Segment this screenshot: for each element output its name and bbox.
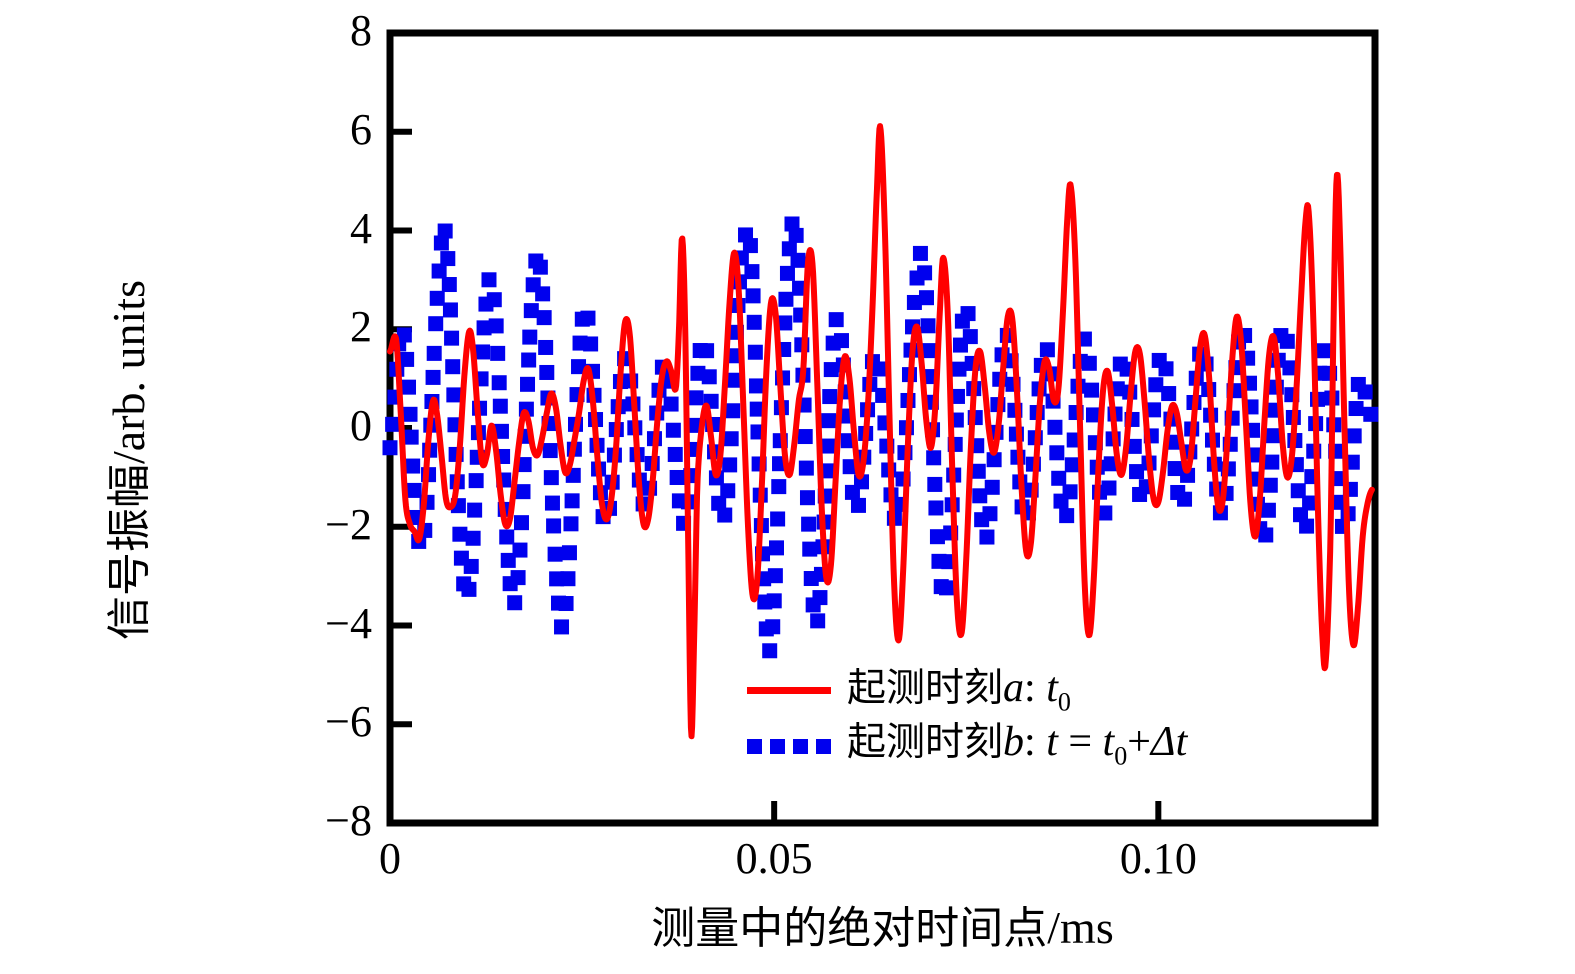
series-b-marker xyxy=(444,331,459,346)
series-b-marker xyxy=(545,496,560,511)
y-axis-title-unit: /arb. units xyxy=(103,280,154,464)
series-b-marker xyxy=(961,306,976,321)
series-b-marker xyxy=(1177,492,1192,507)
series-b-marker xyxy=(560,571,575,586)
legend-label-series-a: 起测时刻a: t0 xyxy=(847,660,1071,720)
series-b-marker xyxy=(461,582,476,597)
series-b-marker xyxy=(515,484,530,499)
series-b-marker xyxy=(822,389,837,404)
series-b-marker xyxy=(469,473,484,488)
series-b-marker xyxy=(1040,342,1055,357)
series-b-marker xyxy=(1047,420,1062,435)
series-b-marker xyxy=(535,286,550,301)
series-b-marker xyxy=(440,251,455,266)
series-b-marker xyxy=(430,291,445,306)
series-b-marker xyxy=(1065,457,1080,472)
series-b-marker xyxy=(689,390,704,405)
series-b-marker xyxy=(559,596,574,611)
series-b-marker xyxy=(1358,384,1373,399)
series-b-marker xyxy=(563,516,578,531)
series-b-marker xyxy=(426,370,441,385)
series-b-marker xyxy=(1159,361,1174,376)
series-b-marker xyxy=(985,480,1000,495)
series-b-marker xyxy=(747,315,762,330)
x-axis-title-cjk: 测量中的绝对时间点 xyxy=(651,903,1047,954)
series-b-marker xyxy=(917,265,932,280)
series-b-marker xyxy=(769,540,784,555)
series-b-marker xyxy=(445,359,460,374)
series-b-marker xyxy=(548,547,563,562)
series-b-marker xyxy=(511,570,526,585)
series-b-marker xyxy=(546,518,561,533)
series-b-marker xyxy=(475,344,490,359)
series-b-marker xyxy=(524,303,539,318)
series-b-marker xyxy=(725,403,740,418)
chart-figure: 86420−2−4−6−8 00.050.10 信号振幅/arb. units … xyxy=(0,0,1575,974)
y-tick-label: 0 xyxy=(252,404,372,448)
series-b-marker xyxy=(427,346,442,361)
series-b-marker xyxy=(979,530,994,545)
series-b-marker xyxy=(1261,503,1276,518)
series-b-marker xyxy=(401,380,416,395)
x-axis-title-unit: /ms xyxy=(1047,902,1113,953)
series-b-marker xyxy=(520,377,535,392)
series-b-marker xyxy=(1316,343,1331,358)
legend: 起测时刻a: t0 起测时刻b: t = t0+Δt xyxy=(745,663,1187,771)
series-b-marker xyxy=(821,413,836,428)
series-b-marker xyxy=(791,253,806,268)
series-b-marker xyxy=(872,361,887,376)
series-b-marker xyxy=(512,543,527,558)
series-b-marker xyxy=(1101,481,1116,496)
series-b-marker xyxy=(1347,428,1362,443)
series-b-marker xyxy=(722,457,737,472)
y-tick-label: 4 xyxy=(252,207,372,251)
series-b-marker xyxy=(770,511,785,526)
series-b-marker xyxy=(499,529,514,544)
series-b-marker xyxy=(428,316,443,331)
series-b-marker xyxy=(554,619,569,634)
series-b-marker xyxy=(670,470,685,485)
series-b-marker xyxy=(720,483,735,498)
series-b-marker xyxy=(446,387,461,402)
series-b-marker xyxy=(481,272,496,287)
y-tick-label: 6 xyxy=(252,108,372,152)
legend-label-series-b: 起测时刻b: t = t0+Δt xyxy=(847,714,1187,774)
series-b-marker xyxy=(583,336,598,351)
y-axis-title-cjk: 信号振幅 xyxy=(104,464,155,640)
y-tick-label: 2 xyxy=(252,305,372,349)
series-b-marker xyxy=(1299,519,1314,534)
series-b-marker xyxy=(748,345,763,360)
plot-area xyxy=(0,0,1575,974)
series-b-marker xyxy=(699,343,714,358)
series-b-marker xyxy=(537,310,552,325)
y-tick-label: −4 xyxy=(252,602,372,646)
series-b-marker xyxy=(768,568,783,583)
series-b-marker xyxy=(802,542,817,557)
series-b-marker xyxy=(765,619,780,634)
series-b-marker xyxy=(919,290,934,305)
series-b-marker xyxy=(466,531,481,546)
series-b-marker xyxy=(762,643,777,658)
series-b-marker xyxy=(562,545,577,560)
series-b-marker xyxy=(724,431,739,446)
series-b-marker xyxy=(801,517,816,532)
series-b-marker xyxy=(789,228,804,243)
series-b-marker xyxy=(717,508,732,523)
legend-swatch-dotted-line xyxy=(745,724,833,764)
series-b-marker xyxy=(404,430,419,445)
series-b-marker xyxy=(668,447,683,462)
series-b-marker xyxy=(744,264,759,279)
series-b-marker xyxy=(702,369,717,384)
series-b-marker xyxy=(1264,455,1279,470)
series-b-marker xyxy=(963,329,978,344)
series-b-marker xyxy=(799,461,814,476)
series-b-marker xyxy=(405,459,420,474)
series-b-marker xyxy=(1349,401,1364,416)
series-b-marker xyxy=(443,302,458,317)
series-b-marker xyxy=(1082,356,1097,371)
series-b-marker xyxy=(1280,334,1295,349)
series-b-marker xyxy=(921,318,936,333)
series-b-marker xyxy=(1161,386,1176,401)
series-b-marker xyxy=(487,292,502,307)
series-b-marker xyxy=(930,529,945,544)
series-b-marker xyxy=(926,450,941,465)
y-axis-title: 信号振幅/arb. units xyxy=(93,140,157,780)
series-b-marker xyxy=(1263,478,1278,493)
series-b-marker xyxy=(780,266,795,281)
series-b-marker xyxy=(1049,445,1064,460)
series-b-marker xyxy=(489,318,504,333)
series-b-marker xyxy=(1059,508,1074,523)
series-b-marker xyxy=(767,593,782,608)
series-b-marker xyxy=(442,277,457,292)
series-b-marker xyxy=(493,399,508,414)
series-b-marker xyxy=(521,353,536,368)
y-tick-label: 8 xyxy=(252,9,372,53)
series-b-marker xyxy=(407,483,422,498)
series-b-marker xyxy=(507,595,522,610)
series-b-marker xyxy=(771,479,786,494)
series-b-marker xyxy=(829,312,844,327)
series-b-marker xyxy=(834,333,849,348)
series-b-marker xyxy=(810,613,825,628)
x-tick-label: 0.05 xyxy=(694,837,854,881)
series-b-marker xyxy=(928,500,943,515)
series-b-marker xyxy=(399,352,414,367)
legend-item-series-a: 起测时刻a: t0 xyxy=(745,663,1187,717)
series-b-marker xyxy=(490,346,505,361)
series-b-marker xyxy=(543,443,558,458)
series-b-marker xyxy=(438,224,453,239)
series-b-marker xyxy=(1063,484,1078,499)
series-b-marker xyxy=(800,490,815,505)
series-b-marker xyxy=(565,493,580,508)
series-b-marker xyxy=(951,362,966,377)
series-b-marker xyxy=(664,397,679,412)
series-b-marker xyxy=(522,330,537,345)
legend-swatch-solid-line xyxy=(745,670,833,710)
series-b-marker xyxy=(385,417,400,432)
series-b-marker xyxy=(1148,377,1163,392)
series-b-marker xyxy=(539,365,554,380)
series-b-marker xyxy=(403,407,418,422)
series-b-marker xyxy=(812,590,827,605)
series-b-marker xyxy=(1363,407,1378,422)
series-b-marker xyxy=(743,238,758,253)
series-b-marker xyxy=(514,515,529,530)
x-axis-title: 测量中的绝对时间点/ms xyxy=(390,892,1375,956)
series-b-marker xyxy=(580,311,595,326)
series-b-marker xyxy=(778,292,793,307)
series-b-marker xyxy=(538,340,553,355)
series-b-marker xyxy=(666,423,681,438)
series-a-solid xyxy=(390,126,1372,736)
series-b-marker xyxy=(464,559,479,574)
series-b-marker xyxy=(982,506,997,521)
y-tick-label: −6 xyxy=(252,700,372,744)
x-tick-label: 0.10 xyxy=(1078,837,1238,881)
series-b-marker xyxy=(913,246,928,261)
y-tick-label: −2 xyxy=(252,503,372,547)
series-b-marker xyxy=(746,288,761,303)
series-b-marker xyxy=(1051,471,1066,486)
series-b-marker xyxy=(1258,527,1273,542)
series-b-marker xyxy=(1266,428,1281,443)
series-b-marker xyxy=(492,375,507,390)
legend-item-series-b: 起测时刻b: t = t0+Δt xyxy=(745,717,1187,771)
series-b-marker xyxy=(383,440,398,455)
series-b-marker xyxy=(851,498,866,513)
series-b-marker xyxy=(749,378,764,393)
series-b-marker xyxy=(452,527,467,542)
series-b-marker xyxy=(544,470,559,485)
series-b-marker xyxy=(939,580,954,595)
series-b-marker xyxy=(798,429,813,444)
series-b-marker xyxy=(927,477,942,492)
series-b-marker xyxy=(1084,383,1099,398)
x-tick-label: 0 xyxy=(310,837,470,881)
series-b-marker xyxy=(533,260,548,275)
series-b-marker xyxy=(467,503,482,518)
